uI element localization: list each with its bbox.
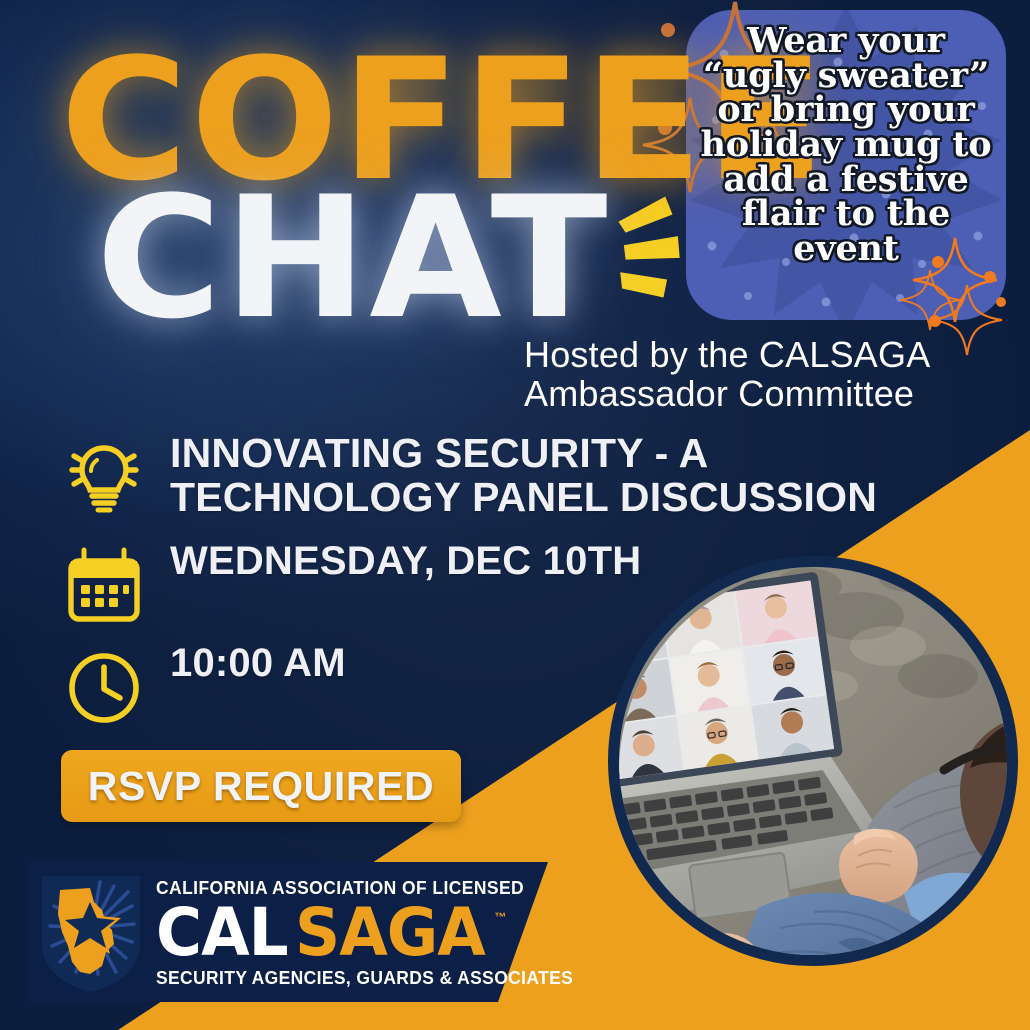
topic-line-1: INNOVATING SECURITY - A xyxy=(170,432,877,476)
hosted-line-1: Hosted by the CALSAGA xyxy=(524,336,994,375)
topic-icon-slot xyxy=(58,432,170,524)
detail-row-topic: INNOVATING SECURITY - A TECHNOLOGY PANEL… xyxy=(58,432,958,524)
video-call-photo xyxy=(608,556,1018,966)
clock-icon xyxy=(58,642,150,734)
date-icon-slot xyxy=(58,540,170,632)
logo-text-block: CALIFORNIA ASSOCIATION OF LICENSED CAL S… xyxy=(156,878,591,989)
logo-saga: SAGA xyxy=(295,900,485,966)
time-icon-slot xyxy=(58,642,170,734)
logo-bottom-text: SECURITY AGENCIES, GUARDS & ASSOCIATES xyxy=(156,968,573,989)
time-text: 10:00 AM xyxy=(170,642,346,685)
date-line-1: WEDNESDAY, DEC 10TH xyxy=(170,540,641,583)
calsaga-shield-icon xyxy=(32,866,150,998)
event-poster: Wear your “ugly sweater” or bring your h… xyxy=(0,0,1030,1030)
callout-line-5: add a festive xyxy=(698,163,994,198)
callout-line-6: flair to the xyxy=(698,197,994,232)
callout-line-3: or bring your xyxy=(698,93,994,128)
calsaga-logo: CALIFORNIA ASSOCIATION OF LICENSED CAL S… xyxy=(28,862,548,1002)
date-text: WEDNESDAY, DEC 10TH xyxy=(170,540,641,583)
callout-line-7: event xyxy=(698,232,994,267)
video-call-illustration xyxy=(608,556,1018,966)
ugly-sweater-callout: Wear your “ugly sweater” or bring your h… xyxy=(686,10,1006,320)
topic-text: INNOVATING SECURITY - A TECHNOLOGY PANEL… xyxy=(170,432,877,520)
rsvp-label: RSVP REQUIRED xyxy=(88,763,435,810)
callout-line-1: Wear your xyxy=(698,24,994,59)
callout-text-block: Wear your “ugly sweater” or bring your h… xyxy=(686,10,1006,266)
title-chat-row: CHAT xyxy=(60,186,700,330)
logo-trademark: ™ xyxy=(494,911,506,923)
hosted-by-text: Hosted by the CALSAGA Ambassador Committ… xyxy=(524,336,994,414)
logo-content: CALIFORNIA ASSOCIATION OF LICENSED CAL S… xyxy=(28,862,548,1002)
title-chat: CHAT xyxy=(96,186,610,330)
callout-line-2: “ugly sweater” xyxy=(698,59,994,94)
title-block: COFFEE CHAT xyxy=(60,48,700,331)
callout-line-4: holiday mug to xyxy=(698,128,994,163)
time-line-1: 10:00 AM xyxy=(170,642,346,685)
rsvp-required-button[interactable]: RSVP REQUIRED xyxy=(61,750,461,822)
topic-line-2: TECHNOLOGY PANEL DISCUSSION xyxy=(170,476,877,520)
calendar-icon xyxy=(58,540,150,632)
logo-wordmark: CAL SAGA ™ xyxy=(156,900,591,966)
hosted-line-2: Ambassador Committee xyxy=(524,375,994,414)
logo-cal: CAL xyxy=(156,900,288,966)
lightbulb-icon xyxy=(58,432,150,524)
